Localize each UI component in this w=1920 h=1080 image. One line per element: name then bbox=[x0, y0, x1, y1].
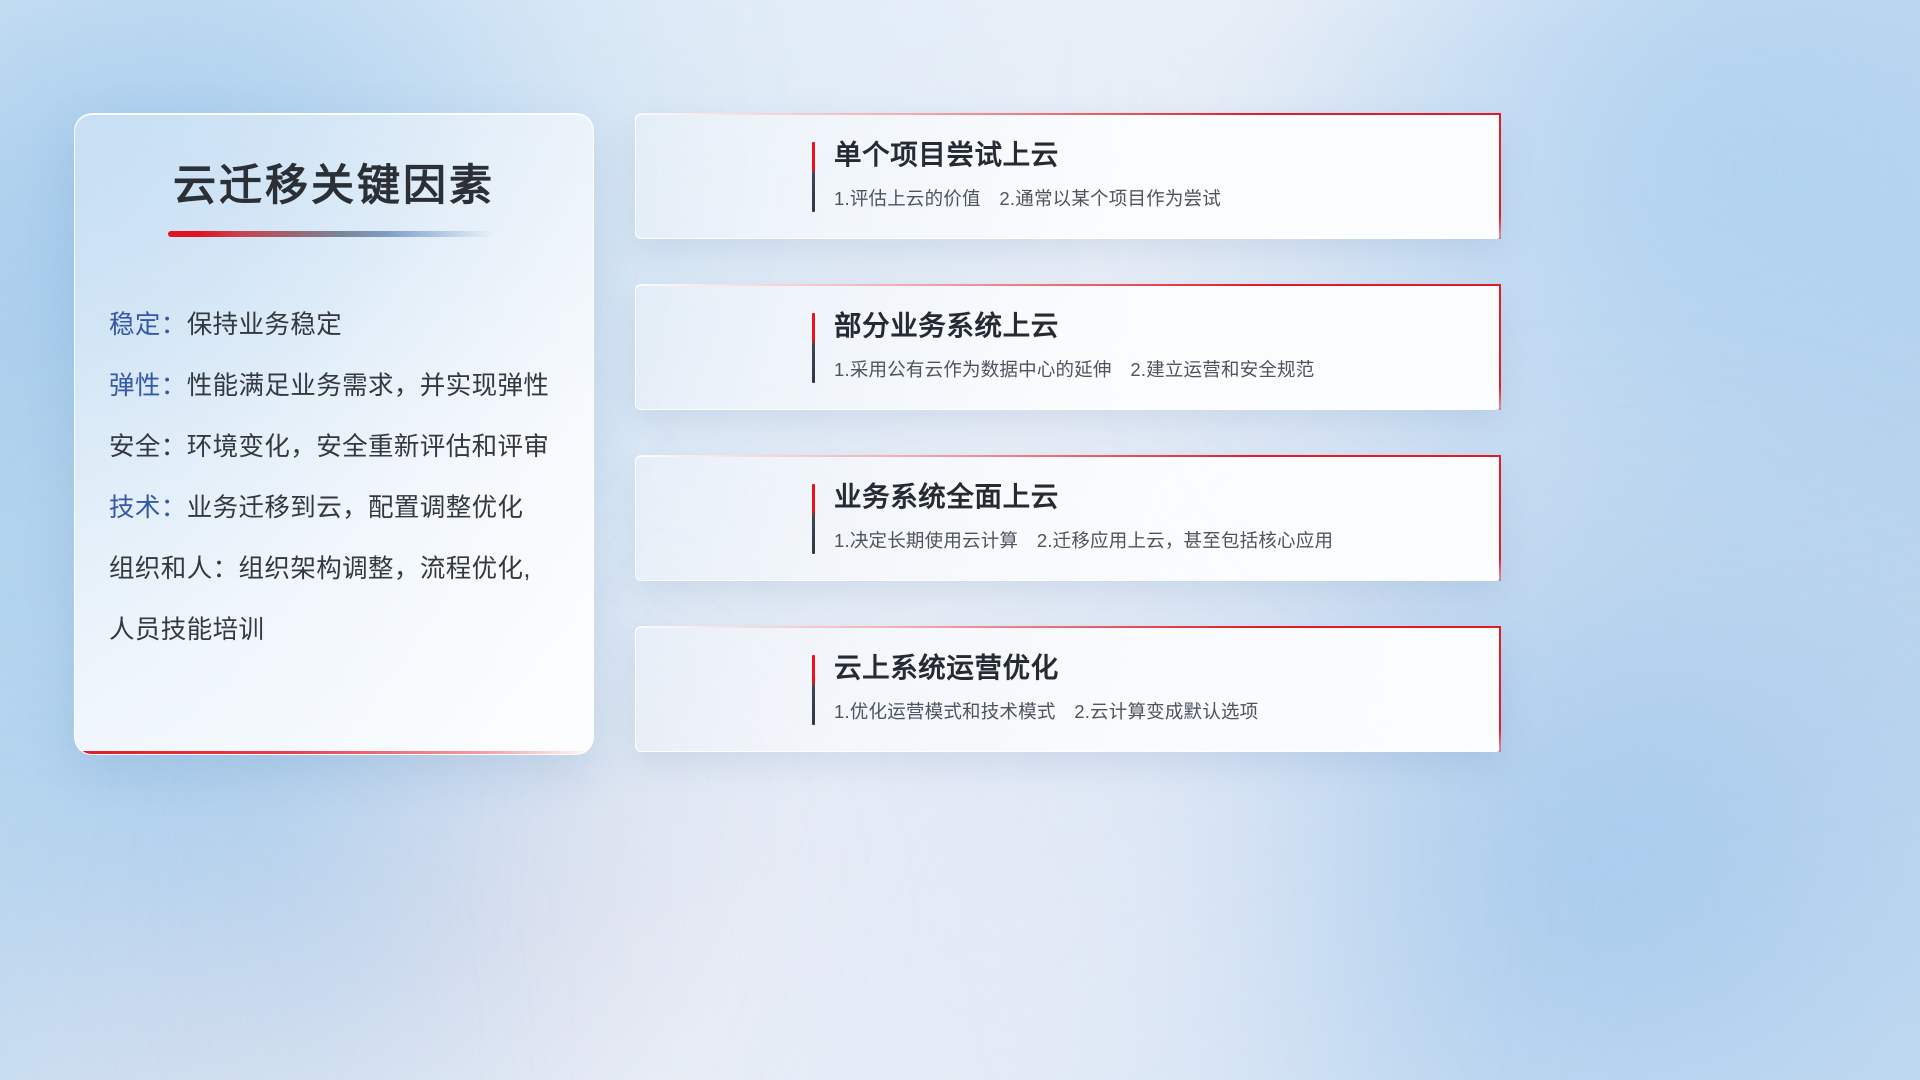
step-title: 云上系统运营优化 bbox=[834, 649, 1476, 687]
factor-list: 稳定：保持业务稳定弹性：性能满足业务需求，并实现弹性安全：环境变化，安全重新评估… bbox=[109, 295, 593, 661]
step-number-text: 04 bbox=[697, 637, 830, 742]
step-number-text: 03 bbox=[697, 466, 830, 571]
steps-column: 01单个项目尝试上云1.评估上云的价值 2.通常以某个项目作为尝试02部分业务系… bbox=[635, 113, 1865, 797]
factor-item: 安全：环境变化，安全重新评估和评审 bbox=[109, 417, 593, 478]
factor-item: 组织和人：组织架构调整，流程优化, bbox=[109, 539, 593, 600]
factor-label: 组织和人： bbox=[109, 555, 239, 583]
step-divider-bar bbox=[812, 655, 815, 725]
factor-value: 环境变化，安全重新评估和评审 bbox=[187, 433, 550, 461]
step-subtitle: 1.优化运营模式和技术模式 2.云计算变成默认选项 bbox=[834, 699, 1476, 725]
factor-value: 组织架构调整，流程优化, bbox=[239, 555, 531, 583]
factor-item: 人员技能培训 bbox=[109, 600, 593, 661]
step-subtitle: 1.采用公有云作为数据中心的延伸 2.建立运营和安全规范 bbox=[834, 357, 1476, 383]
factor-value: 性能满足业务需求，并实现弹性 bbox=[187, 372, 550, 400]
step-card[interactable]: 03业务系统全面上云1.决定长期使用云计算 2.迁移应用上云，甚至包括核心应用 bbox=[635, 455, 1501, 581]
step-body: 部分业务系统上云1.采用公有云作为数据中心的延伸 2.建立运营和安全规范 bbox=[834, 307, 1476, 383]
factor-item: 技术：业务迁移到云，配置调整优化 bbox=[109, 478, 593, 539]
step-number-text: 01 bbox=[697, 124, 830, 229]
step-card[interactable]: 01单个项目尝试上云1.评估上云的价值 2.通常以某个项目作为尝试 bbox=[635, 113, 1501, 239]
step-body: 单个项目尝试上云1.评估上云的价值 2.通常以某个项目作为尝试 bbox=[834, 136, 1476, 212]
factor-item: 弹性：性能满足业务需求，并实现弹性 bbox=[109, 356, 593, 417]
step-divider-bar bbox=[812, 142, 815, 212]
page-title: 云迁移关键因素 bbox=[75, 151, 593, 213]
factor-value: 业务迁移到云，配置调整优化 bbox=[187, 494, 524, 522]
step-card[interactable]: 02部分业务系统上云1.采用公有云作为数据中心的延伸 2.建立运营和安全规范 bbox=[635, 284, 1501, 410]
factor-label: 弹性： bbox=[109, 372, 187, 400]
step-divider-bar bbox=[812, 484, 815, 554]
step-number-text: 02 bbox=[697, 295, 830, 400]
step-card[interactable]: 04云上系统运营优化1.优化运营模式和技术模式 2.云计算变成默认选项 bbox=[635, 626, 1501, 752]
factor-label: 安全： bbox=[109, 433, 187, 461]
step-body: 业务系统全面上云1.决定长期使用云计算 2.迁移应用上云，甚至包括核心应用 bbox=[834, 478, 1476, 554]
step-title: 业务系统全面上云 bbox=[834, 478, 1476, 516]
key-factors-panel: 云迁移关键因素 稳定：保持业务稳定弹性：性能满足业务需求，并实现弹性安全：环境变… bbox=[74, 113, 594, 755]
step-divider-bar bbox=[812, 313, 815, 383]
factor-value: 人员技能培训 bbox=[109, 616, 264, 644]
step-title: 单个项目尝试上云 bbox=[834, 136, 1476, 174]
step-title: 部分业务系统上云 bbox=[834, 307, 1476, 345]
step-subtitle: 1.决定长期使用云计算 2.迁移应用上云，甚至包括核心应用 bbox=[834, 528, 1476, 554]
title-underline-gradient bbox=[168, 231, 500, 237]
step-subtitle: 1.评估上云的价值 2.通常以某个项目作为尝试 bbox=[834, 186, 1476, 212]
factor-value: 保持业务稳定 bbox=[187, 311, 342, 339]
factor-item: 稳定：保持业务稳定 bbox=[109, 295, 593, 356]
step-body: 云上系统运营优化1.优化运营模式和技术模式 2.云计算变成默认选项 bbox=[834, 649, 1476, 725]
factor-label: 稳定： bbox=[109, 311, 187, 339]
factor-label: 技术： bbox=[109, 494, 187, 522]
